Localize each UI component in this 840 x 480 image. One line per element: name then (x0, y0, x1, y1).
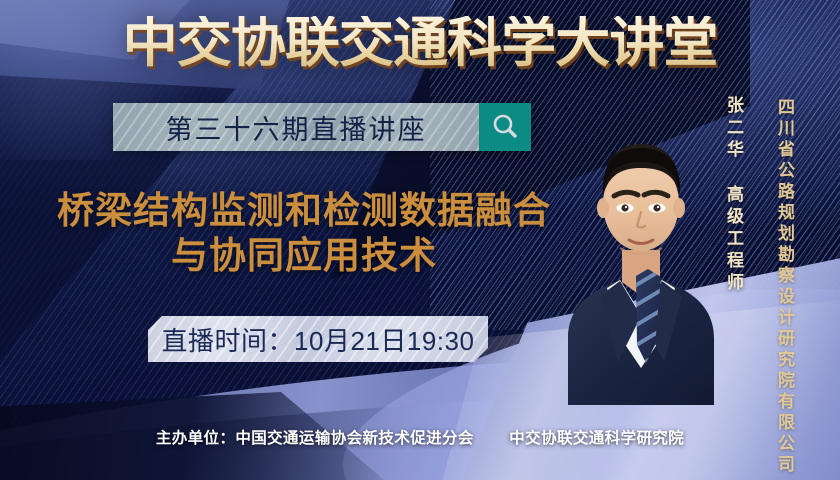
search-icon (490, 112, 520, 142)
footer-organizers: 主办单位：中国交通运输协会新技术促进分会 中交协联交通科学研究院 (0, 426, 840, 448)
lecture-title: 桥梁结构监测和检测数据融合 与协同应用技术 (44, 188, 564, 278)
page-title: 中交协联交通科学大讲堂 (0, 16, 840, 70)
search-button[interactable] (479, 103, 531, 151)
lecture-title-line-1: 桥梁结构监测和检测数据融合 (57, 189, 551, 232)
broadcast-time-text: 直播时间：10月21日19:30 (162, 321, 475, 358)
episode-banner: 第三十六期直播讲座 (113, 103, 531, 151)
speaker-name: 张二华 (721, 96, 746, 162)
lecture-title-line-2: 与协同应用技术 (44, 233, 564, 278)
poster-canvas: 中交协联交通科学大讲堂 第三十六期直播讲座 桥梁结构监测和检测数据融合 与协同应… (0, 0, 840, 480)
speaker-portrait (548, 100, 730, 405)
episode-label: 第三十六期直播讲座 (166, 108, 427, 147)
broadcast-time-plate: 直播时间：10月21日19:30 (148, 316, 488, 362)
episode-label-panel: 第三十六期直播讲座 (113, 103, 479, 151)
footer-organizer-primary: 主办单位：中国交通运输协会新技术促进分会 (156, 430, 474, 447)
speaker-organization: 四川省公路规划勘察设计研究院有限公司 (772, 98, 797, 476)
speaker-job-title: 高级工程师 (721, 185, 746, 295)
footer-organizer-secondary: 中交协联交通科学研究院 (509, 430, 684, 447)
